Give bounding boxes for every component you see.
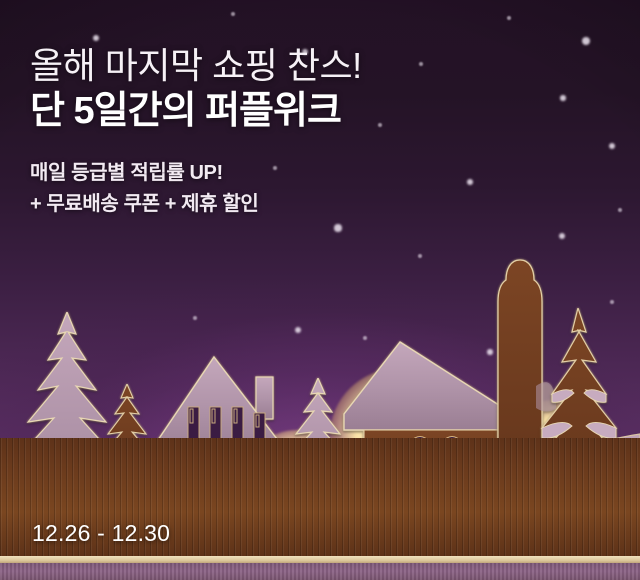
snowflake	[378, 123, 382, 127]
promo-copy-block: 올해 마지막 쇼핑 찬스! 단 5일간의 퍼플위크 매일 등급별 적립률 UP!…	[30, 46, 362, 220]
promo-date-range: 12.26 - 12.30	[32, 520, 170, 547]
benefit-line-2: + 무료배송 쿠폰 + 제휴 할인	[30, 189, 362, 220]
snowflake	[419, 62, 423, 66]
promo-benefits: 매일 등급별 적립률 UP! + 무료배송 쿠폰 + 제휴 할인	[30, 158, 362, 220]
headline-line-2: 단 5일간의 퍼플위크	[30, 91, 362, 133]
snowflake	[93, 35, 99, 41]
headline-line-1: 올해 마지막 쇼핑 찬스!	[30, 46, 362, 86]
snowflake	[582, 37, 590, 45]
snowflake	[560, 95, 565, 100]
plinth-base	[0, 563, 640, 580]
snowflake	[467, 179, 473, 185]
snowflake	[609, 143, 615, 149]
snowflake	[334, 224, 341, 231]
benefit-line-1: 매일 등급별 적립률 UP!	[30, 158, 362, 189]
purple-week-promo-banner: 올해 마지막 쇼핑 찬스! 단 5일간의 퍼플위크 매일 등급별 적립률 UP!…	[0, 0, 640, 580]
